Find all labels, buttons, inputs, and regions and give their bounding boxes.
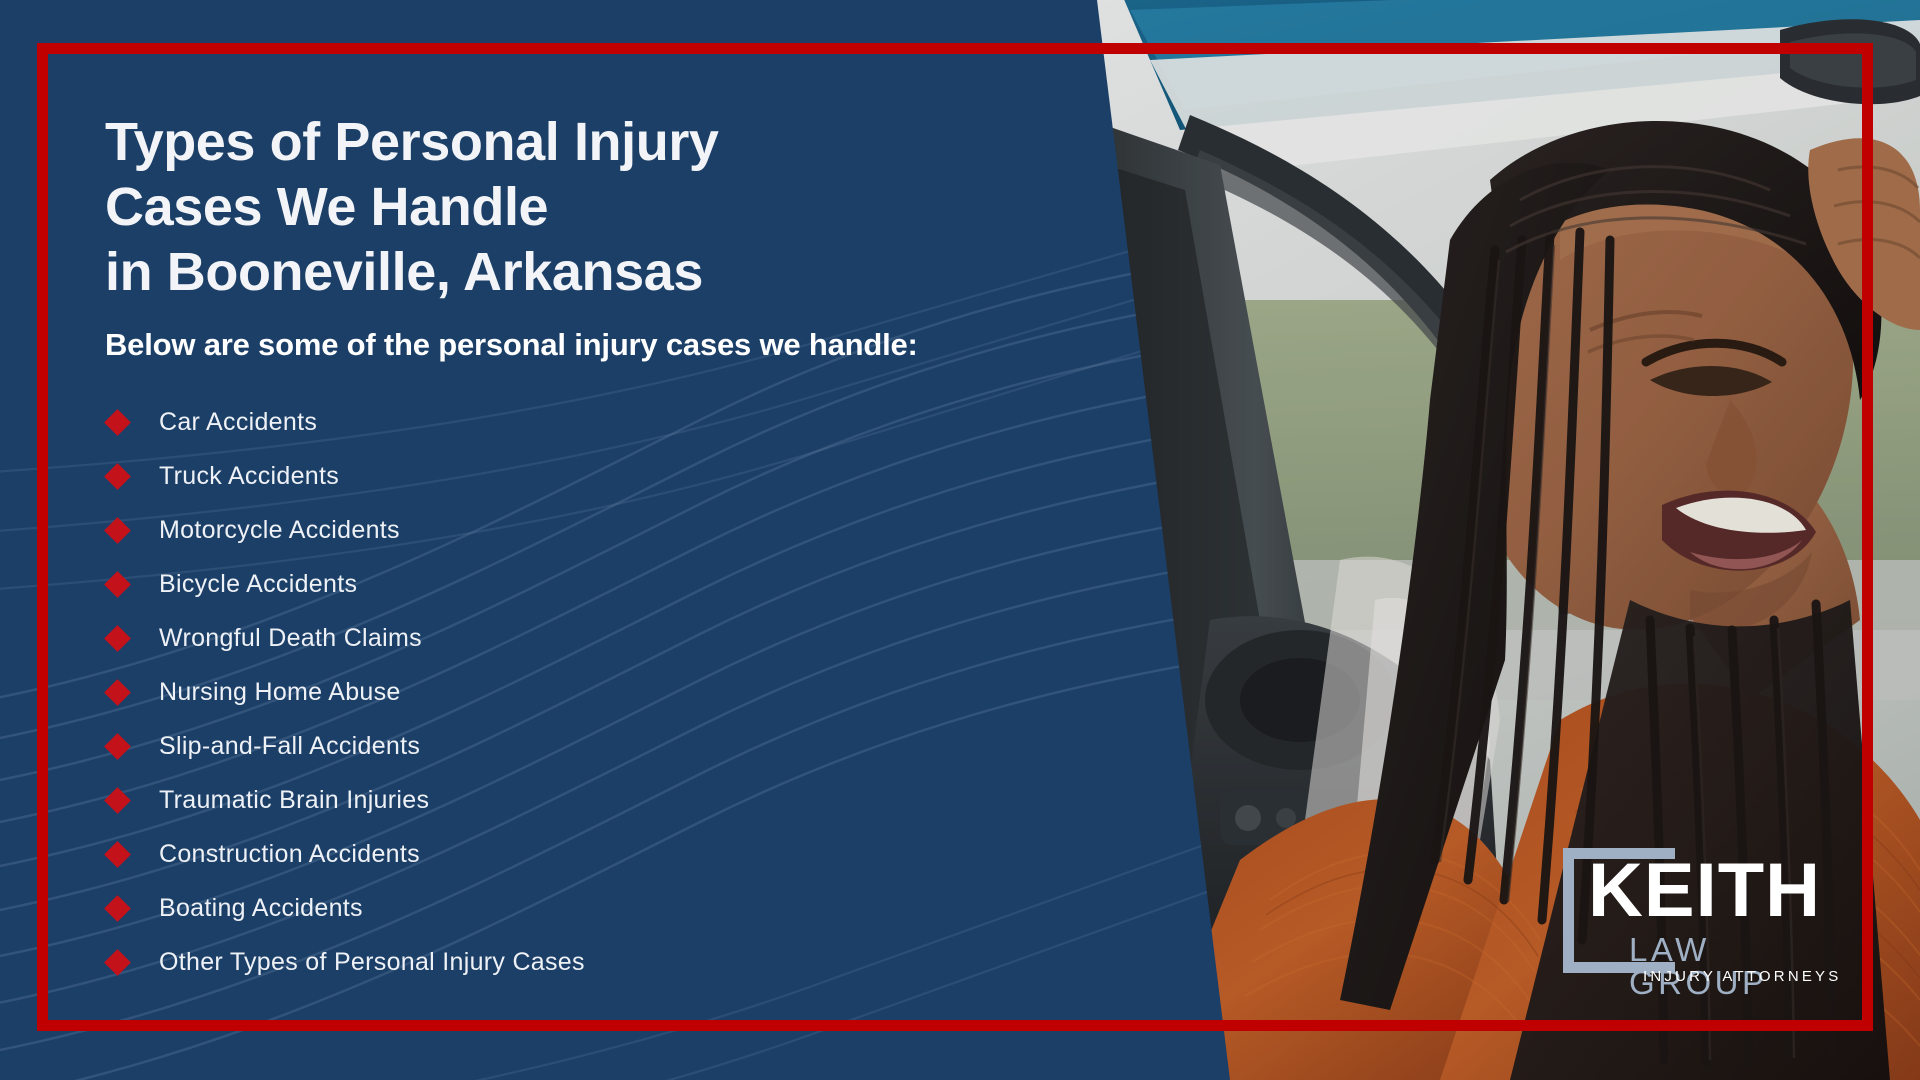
diamond-bullet-icon bbox=[104, 679, 131, 706]
diamond-bullet-icon bbox=[104, 463, 131, 490]
list-item-label: Nursing Home Abuse bbox=[159, 678, 401, 707]
list-item-label: Bicycle Accidents bbox=[159, 570, 357, 599]
list-item-label: Slip-and-Fall Accidents bbox=[159, 732, 420, 761]
list-item: Nursing Home Abuse bbox=[105, 665, 1085, 719]
list-item-label: Construction Accidents bbox=[159, 840, 420, 869]
page-title: Types of Personal Injury Cases We Handle… bbox=[105, 110, 1085, 305]
diamond-bullet-icon bbox=[104, 571, 131, 598]
case-types-list: Car Accidents Truck Accidents Motorcycle… bbox=[105, 395, 1085, 989]
subtitle: Below are some of the personal injury ca… bbox=[105, 327, 1085, 363]
logo-name: KEITH bbox=[1588, 853, 1821, 929]
page-title-line-3: in Booneville, Arkansas bbox=[105, 242, 703, 302]
list-item: Construction Accidents bbox=[105, 827, 1085, 881]
list-item-label: Truck Accidents bbox=[159, 462, 339, 491]
list-item-label: Car Accidents bbox=[159, 408, 317, 437]
list-item: Wrongful Death Claims bbox=[105, 611, 1085, 665]
list-item-label: Motorcycle Accidents bbox=[159, 516, 400, 545]
list-item: Traumatic Brain Injuries bbox=[105, 773, 1085, 827]
diamond-bullet-icon bbox=[104, 517, 131, 544]
list-item-label: Wrongful Death Claims bbox=[159, 624, 422, 653]
diamond-bullet-icon bbox=[104, 895, 131, 922]
diamond-bullet-icon bbox=[104, 841, 131, 868]
keith-law-group-logo: KEITH LAW GROUP INJURY ATTORNEYS bbox=[1563, 845, 1853, 990]
list-item-label: Other Types of Personal Injury Cases bbox=[159, 948, 585, 977]
list-item-label: Boating Accidents bbox=[159, 894, 363, 923]
list-item-label: Traumatic Brain Injuries bbox=[159, 786, 429, 815]
content-block: Types of Personal Injury Cases We Handle… bbox=[105, 110, 1085, 989]
list-item: Bicycle Accidents bbox=[105, 557, 1085, 611]
list-item: Slip-and-Fall Accidents bbox=[105, 719, 1085, 773]
diamond-bullet-icon bbox=[104, 409, 131, 436]
list-item: Truck Accidents bbox=[105, 449, 1085, 503]
page-title-line-2: Cases We Handle bbox=[105, 177, 548, 237]
list-item: Motorcycle Accidents bbox=[105, 503, 1085, 557]
diamond-bullet-icon bbox=[104, 733, 131, 760]
banner-stage: Types of Personal Injury Cases We Handle… bbox=[0, 0, 1920, 1080]
list-item: Other Types of Personal Injury Cases bbox=[105, 935, 1085, 989]
page-title-line-1: Types of Personal Injury bbox=[105, 112, 719, 172]
logo-tagline: INJURY ATTORNEYS bbox=[1643, 969, 1841, 984]
list-item: Car Accidents bbox=[105, 395, 1085, 449]
logo-group: LAW GROUP bbox=[1629, 933, 1853, 999]
diamond-bullet-icon bbox=[104, 787, 131, 814]
list-item: Boating Accidents bbox=[105, 881, 1085, 935]
diamond-bullet-icon bbox=[104, 625, 131, 652]
diamond-bullet-icon bbox=[104, 949, 131, 976]
